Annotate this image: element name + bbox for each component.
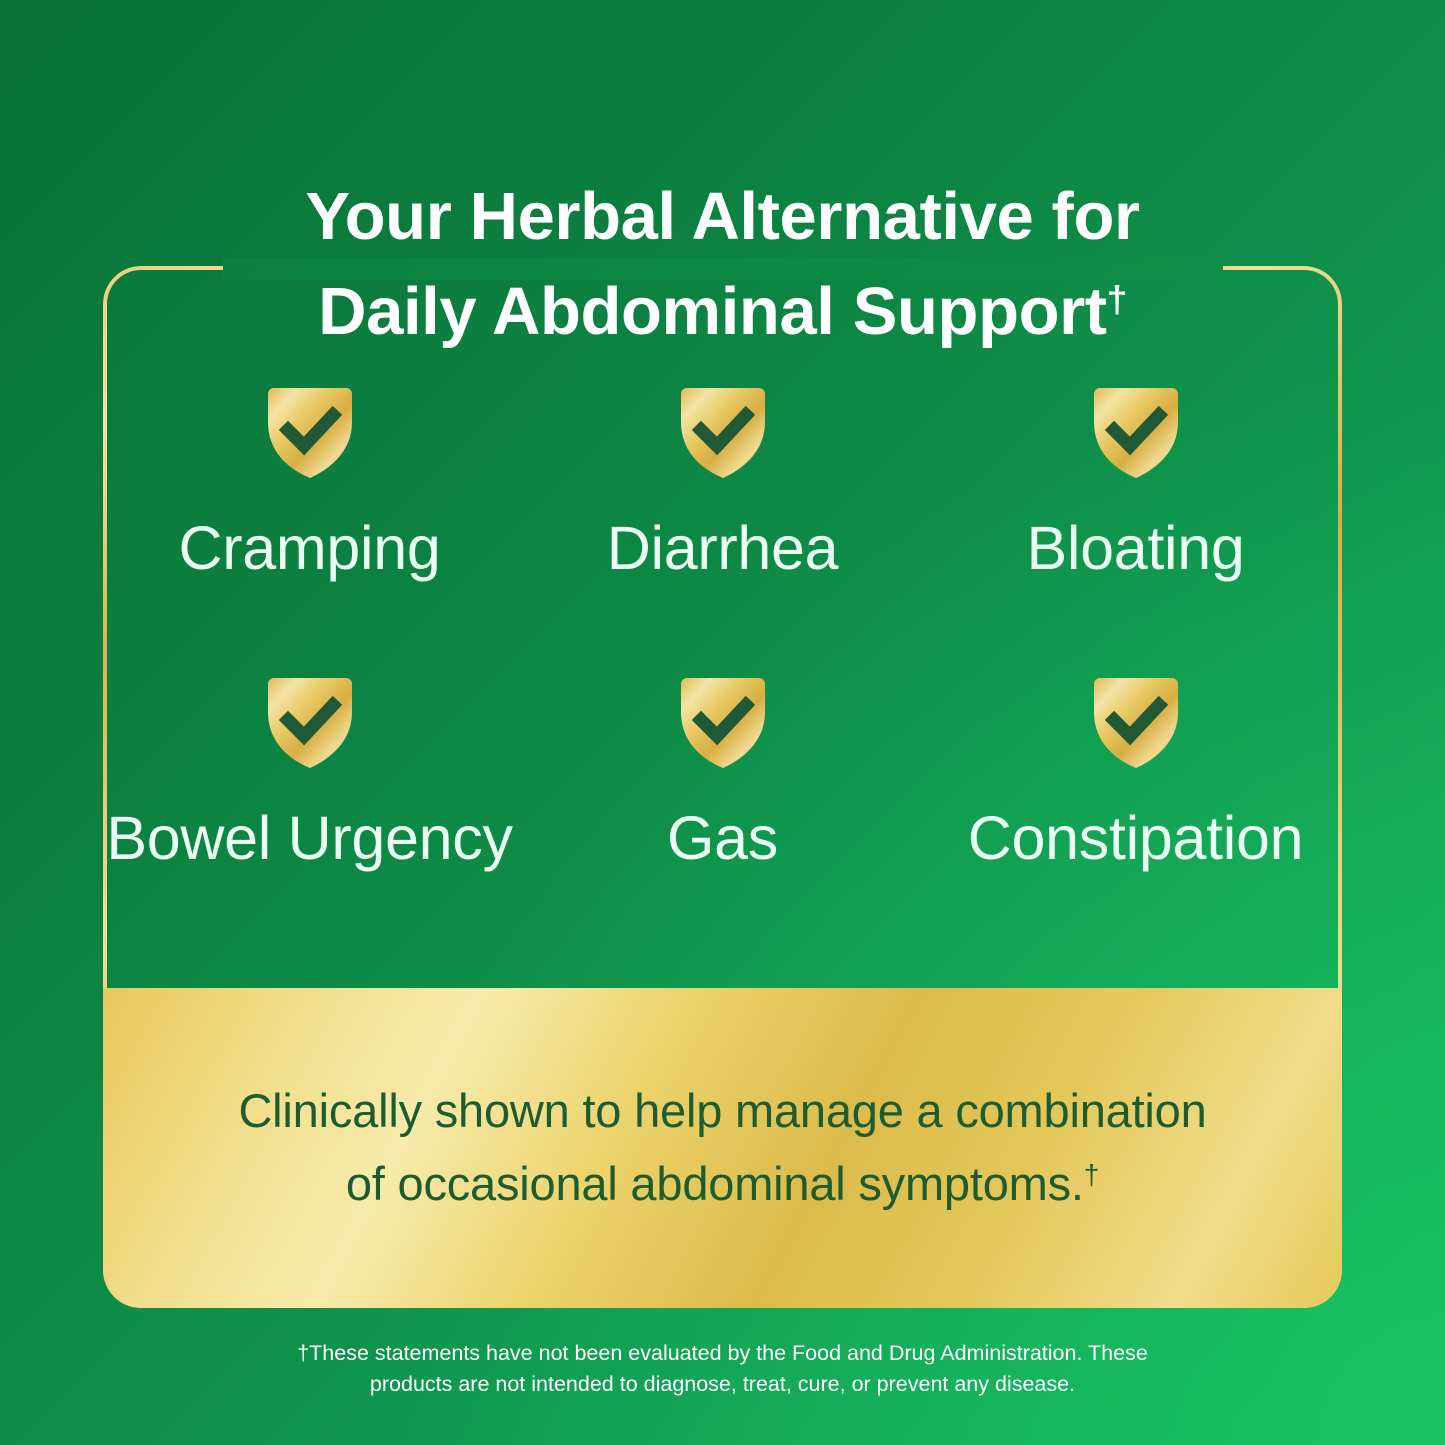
- symptom-label: Diarrhea: [607, 518, 839, 579]
- claim-text-body: Clinically shown to help manage a combin…: [238, 1084, 1206, 1210]
- symptom-label: Bowel Urgency: [106, 808, 512, 869]
- symptom-item-diarrhea: Diarrhea: [516, 386, 929, 579]
- symptom-grid: Cramping Diarrhea Bloating Bowel Urgency: [103, 386, 1342, 966]
- shield-check-icon: [679, 386, 767, 478]
- symptom-label: Constipation: [968, 808, 1304, 869]
- claim-band: Clinically shown to help manage a combin…: [103, 988, 1342, 1308]
- shield-check-icon: [679, 676, 767, 768]
- symptom-item-constipation: Constipation: [929, 676, 1342, 869]
- shield-check-icon: [266, 386, 354, 478]
- claim-text: Clinically shown to help manage a combin…: [178, 1075, 1266, 1221]
- symptom-item-bowel-urgency: Bowel Urgency: [103, 676, 516, 869]
- promo-poster: Your Herbal Alternative for Daily Abdomi…: [0, 0, 1445, 1445]
- symptom-label: Gas: [667, 808, 778, 869]
- symptom-item-gas: Gas: [516, 676, 929, 869]
- shield-check-icon: [1092, 386, 1180, 478]
- symptom-label: Cramping: [178, 518, 440, 579]
- symptom-label: Bloating: [1026, 518, 1244, 579]
- symptom-item-cramping: Cramping: [103, 386, 516, 579]
- claim-text-dagger: †: [1084, 1159, 1099, 1190]
- shield-check-icon: [1092, 676, 1180, 768]
- symptom-item-bloating: Bloating: [929, 386, 1342, 579]
- shield-check-icon: [266, 676, 354, 768]
- disclaimer-text: †These statements have not been evaluate…: [222, 1338, 1223, 1399]
